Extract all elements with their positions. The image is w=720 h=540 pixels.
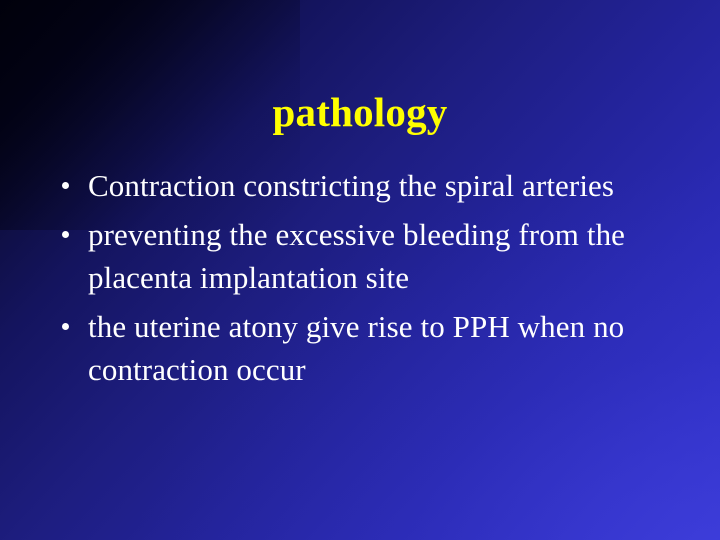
list-item-text: the uterine atony give rise to PPH when … — [88, 305, 684, 391]
list-item-text: Contraction constricting the spiral arte… — [88, 164, 684, 207]
bullet-point-icon — [62, 323, 69, 330]
slide-title-container: pathology — [0, 64, 720, 162]
list-item: the uterine atony give rise to PPH when … — [54, 305, 684, 391]
list-item: Contraction constricting the spiral arte… — [54, 164, 684, 207]
list-item: preventing the excessive bleeding from t… — [54, 213, 684, 299]
bullet-point-icon — [62, 231, 69, 238]
list-item-text: preventing the excessive bleeding from t… — [88, 213, 684, 299]
presentation-slide: pathology Contraction constricting the s… — [0, 0, 720, 540]
bullet-point-icon — [62, 182, 69, 189]
slide-body-container: Contraction constricting the spiral arte… — [54, 164, 684, 391]
page-title: pathology — [273, 91, 448, 134]
